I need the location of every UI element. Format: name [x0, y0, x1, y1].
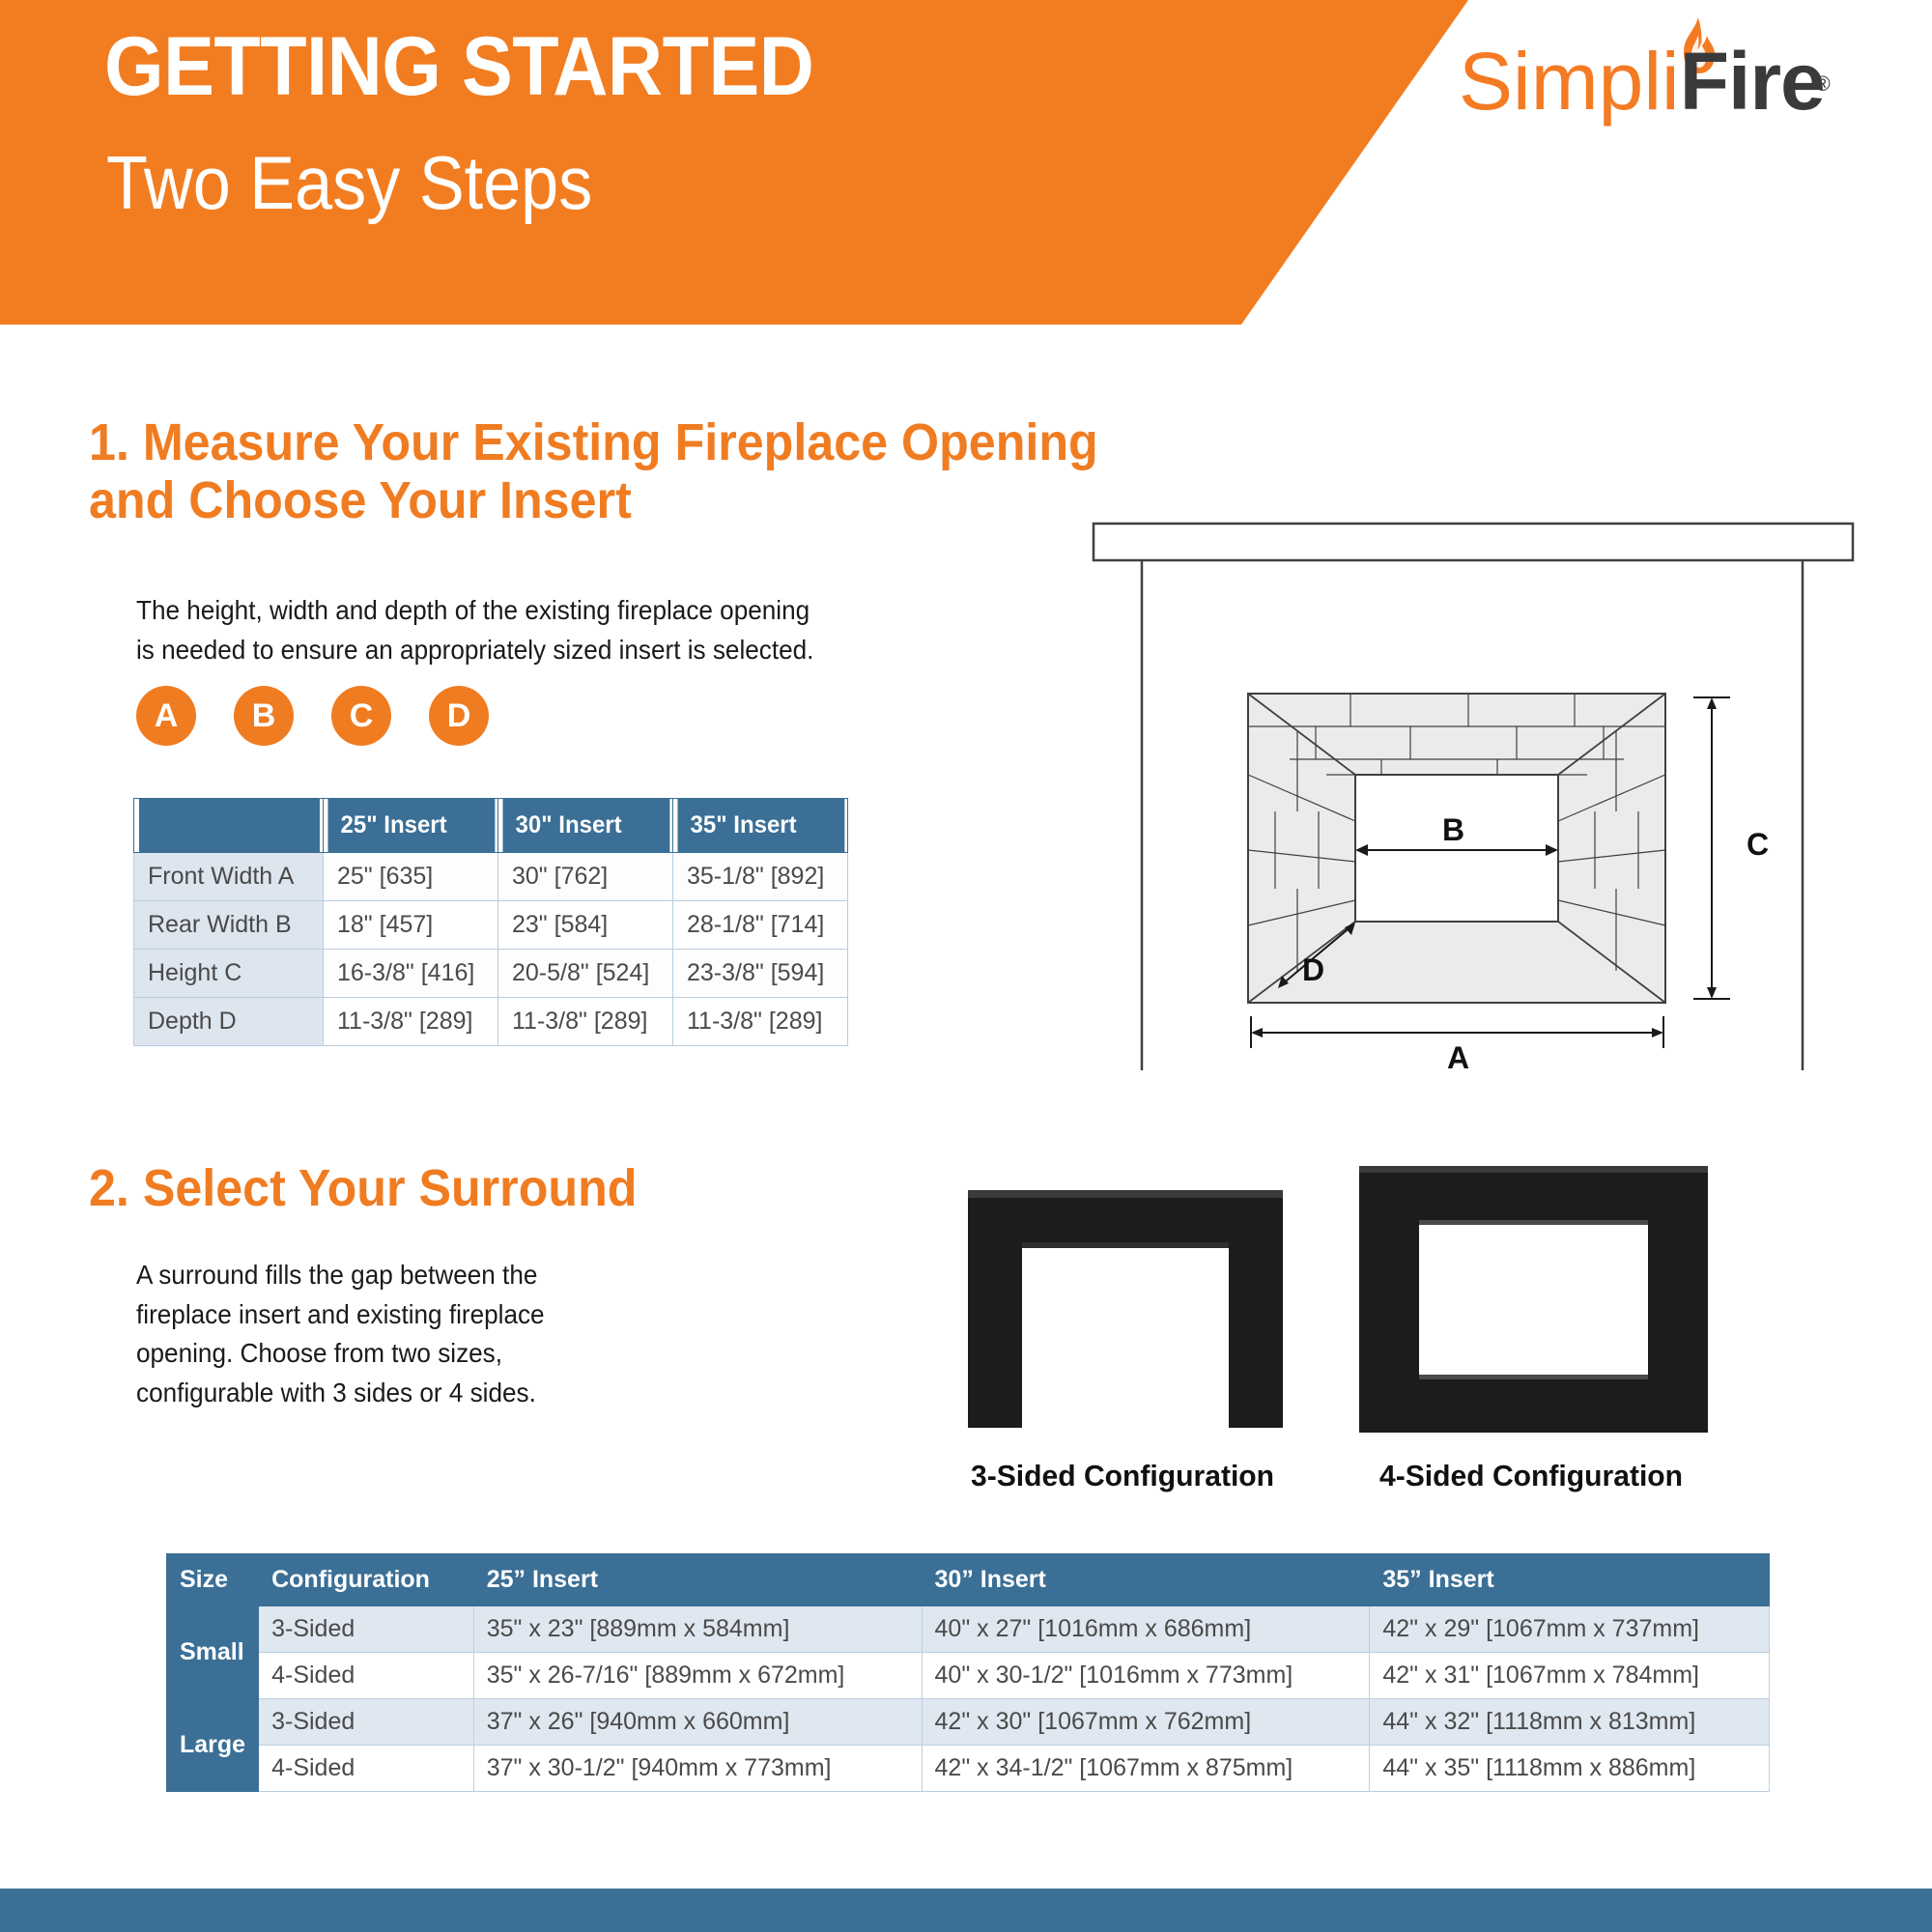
three-sided-surround [966, 1188, 1285, 1430]
th-35-insert: 35” Insert [1370, 1554, 1770, 1606]
cell-depth-25: 11-3/8" [289] [324, 998, 498, 1046]
table-row: Rear Width B 18" [457] 23" [584] 28-1/8"… [134, 901, 848, 950]
cell-depth-35: 11-3/8" [289] [673, 998, 848, 1046]
cell-small-3sided-25: 35" x 23" [889mm x 584mm] [473, 1606, 922, 1653]
group-label-large: Large [167, 1699, 259, 1792]
cell-front-width-35: 35-1/8" [892] [673, 853, 848, 901]
registered-mark: ® [1815, 73, 1831, 95]
diagram-label-a: A [1447, 1040, 1469, 1072]
cell-small-3sided-30: 40" x 27" [1016mm x 686mm] [922, 1606, 1370, 1653]
section2-body-text: A surround fills the gap between the fir… [136, 1256, 724, 1413]
fireplace-opening-diagram: C A B D [1092, 522, 1855, 1072]
insert-dimensions-table: 25" Insert 30" Insert 35" Insert Front W… [133, 798, 848, 1046]
row-label-rear-width: Rear Width B [134, 901, 324, 950]
cell-rear-width-35: 28-1/8" [714] [673, 901, 848, 950]
th-30-insert: 30" Insert [501, 799, 669, 853]
table-header-row: 25" Insert 30" Insert 35" Insert [134, 799, 848, 853]
section1-heading: 1. Measure Your Existing Fireplace Openi… [89, 413, 1436, 530]
four-sided-caption: 4-Sided Configuration [1379, 1459, 1683, 1493]
logo-wordmark: SimpliFire® [1459, 41, 1825, 122]
table-row: Depth D 11-3/8" [289] 11-3/8" [289] 11-3… [134, 998, 848, 1046]
th-25-insert: 25” Insert [473, 1554, 922, 1606]
row-label-depth: Depth D [134, 998, 324, 1046]
row-label-height: Height C [134, 950, 324, 998]
th-configuration: Configuration [259, 1554, 474, 1606]
diagram-label-c: C [1747, 827, 1769, 862]
table-row: Small 3-Sided 35" x 23" [889mm x 584mm] … [167, 1606, 1770, 1653]
cell-small-4sided-35: 42" x 31" [1067mm x 784mm] [1370, 1653, 1770, 1699]
table-row: Height C 16-3/8" [416] 20-5/8" [524] 23-… [134, 950, 848, 998]
table-row: Front Width A 25" [635] 30" [762] 35-1/8… [134, 853, 848, 901]
logo-text-fire: Fire [1680, 36, 1825, 127]
row-label-front-width: Front Width A [134, 853, 324, 901]
cell-depth-30: 11-3/8" [289] [498, 998, 673, 1046]
cell-front-width-30: 30" [762] [498, 853, 673, 901]
th-size: Size [167, 1554, 259, 1606]
page-subtitle: Two Easy Steps [106, 145, 592, 220]
cell-small-4sided-30: 40" x 30-1/2" [1016mm x 773mm] [922, 1653, 1370, 1699]
cell-rear-width-30: 23" [584] [498, 901, 673, 950]
cell-large-3sided-25: 37" x 26" [940mm x 660mm] [473, 1699, 922, 1746]
th-30-insert: 30” Insert [922, 1554, 1370, 1606]
cell-large-4sided-35: 44" x 35" [1118mm x 886mm] [1370, 1746, 1770, 1792]
brand-logo: SimpliFire® [1459, 21, 1864, 128]
cell-large-4sided-25: 37" x 30-1/2" [940mm x 773mm] [473, 1746, 922, 1792]
page-root: GETTING STARTED Two Easy Steps SimpliFir… [0, 0, 1932, 1932]
cell-config-small-3sided: 3-Sided [259, 1606, 474, 1653]
badge-b: B [234, 686, 294, 746]
four-sided-surround [1357, 1164, 1710, 1435]
measurement-badges: ABCD [136, 686, 526, 746]
diagram-label-d: D [1302, 952, 1324, 987]
cell-config-large-4sided: 4-Sided [259, 1746, 474, 1792]
th-35-insert: 35" Insert [676, 799, 844, 853]
cell-config-large-3sided: 3-Sided [259, 1699, 474, 1746]
footer-bar [0, 1889, 1932, 1932]
logo-text-simpli: Simpli [1459, 36, 1680, 127]
cell-rear-width-25: 18" [457] [324, 901, 498, 950]
cell-small-3sided-35: 42" x 29" [1067mm x 737mm] [1370, 1606, 1770, 1653]
badge-c: C [331, 686, 391, 746]
cell-config-small-4sided: 4-Sided [259, 1653, 474, 1699]
th-25-insert: 25" Insert [327, 799, 495, 853]
table-row: Large 3-Sided 37" x 26" [940mm x 660mm] … [167, 1699, 1770, 1746]
cell-small-4sided-25: 35" x 26-7/16" [889mm x 672mm] [473, 1653, 922, 1699]
page-title: GETTING STARTED [104, 25, 813, 108]
section1-body-text: The height, width and depth of the exist… [136, 591, 1054, 669]
table-row: 4-Sided 37" x 30-1/2" [940mm x 773mm] 42… [167, 1746, 1770, 1792]
cell-large-3sided-30: 42" x 30" [1067mm x 762mm] [922, 1699, 1370, 1746]
badge-d: D [429, 686, 489, 746]
diagram-label-b: B [1442, 812, 1464, 847]
three-sided-caption: 3-Sided Configuration [971, 1459, 1274, 1493]
group-label-small: Small [167, 1606, 259, 1699]
th-blank [137, 799, 319, 853]
cell-front-width-25: 25" [635] [324, 853, 498, 901]
table-row: 4-Sided 35" x 26-7/16" [889mm x 672mm] 4… [167, 1653, 1770, 1699]
table-header-row: Size Configuration 25” Insert 30” Insert… [167, 1554, 1770, 1606]
cell-height-30: 20-5/8" [524] [498, 950, 673, 998]
cell-large-4sided-30: 42" x 34-1/2" [1067mm x 875mm] [922, 1746, 1370, 1792]
cell-large-3sided-35: 44" x 32" [1118mm x 813mm] [1370, 1699, 1770, 1746]
badge-a: A [136, 686, 196, 746]
cell-height-25: 16-3/8" [416] [324, 950, 498, 998]
surround-sizes-table: Size Configuration 25” Insert 30” Insert… [166, 1553, 1770, 1792]
cell-height-35: 23-3/8" [594] [673, 950, 848, 998]
